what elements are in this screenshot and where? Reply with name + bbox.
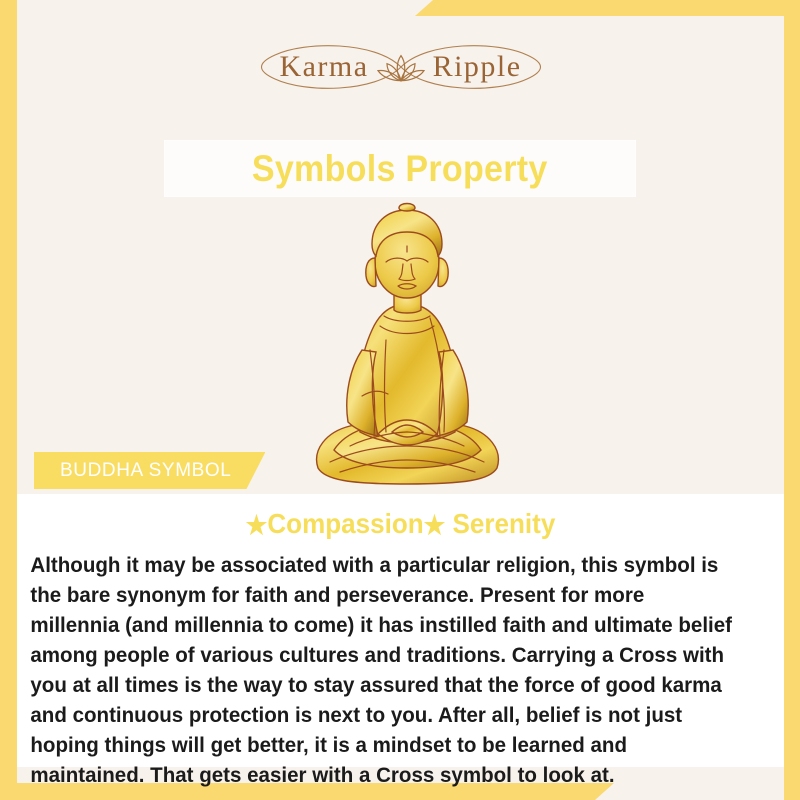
decorative-left-border — [0, 0, 17, 800]
attribute-label-compassion: Compassion — [267, 508, 423, 539]
title-banner: Symbols Property — [165, 141, 635, 196]
star-icon-1: ★ — [246, 510, 268, 540]
golden-buddha-icon — [300, 200, 515, 490]
poster-canvas: KarmaRipple Symbols Property — [0, 0, 800, 800]
description-card: ★Compassion★ Serenity Although it may be… — [17, 494, 784, 767]
attribute-label-serenity: Serenity — [453, 508, 556, 539]
decorative-top-right-banner — [415, 0, 800, 16]
description-text: Although it may be associated with a par… — [17, 550, 749, 790]
star-icon-2: ★ — [424, 510, 446, 540]
page-title: Symbols Property — [252, 148, 548, 190]
brand-name-left: Karma — [279, 50, 368, 83]
category-badge: BUDDHA SYMBOL — [34, 452, 265, 489]
brand-name-right: Ripple — [433, 50, 522, 83]
buddha-illustration — [300, 200, 515, 490]
brand-name: KarmaRipple — [279, 50, 521, 84]
category-badge-label: BUDDHA SYMBOL — [60, 460, 231, 482]
attributes-subtitle: ★Compassion★ Serenity — [44, 508, 757, 541]
brand-logo-wrap: KarmaRipple — [261, 44, 539, 90]
lotus-icon — [375, 52, 427, 84]
brand-logo: KarmaRipple — [17, 44, 784, 90]
decorative-right-border — [784, 0, 800, 800]
